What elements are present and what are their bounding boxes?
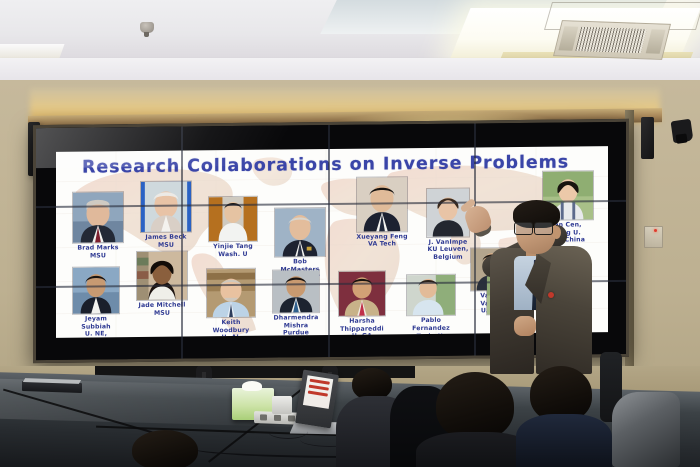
person-card-xueyang-feng: Xueyang Feng VA Tech xyxy=(356,176,408,249)
person-card-dharmendra-mishra: Dharmendra Mishra Purdue xyxy=(272,269,320,337)
audience-body xyxy=(516,414,612,467)
power-outlet-3 xyxy=(288,415,295,421)
audience-member-3 xyxy=(436,372,514,440)
power-adapter xyxy=(272,396,292,414)
person-name-affiliation: Keith Woodbury U. AL xyxy=(206,319,256,338)
presenter-glasses xyxy=(514,222,556,234)
power-outlet-1 xyxy=(260,414,267,420)
person-name-affiliation: Brad Marks MSU xyxy=(72,244,124,260)
ceiling xyxy=(0,0,700,86)
audience-head xyxy=(436,372,514,440)
person-card-keith-woodbury: Keith Woodbury U. AL xyxy=(206,268,256,338)
hvac-vent xyxy=(553,20,671,60)
person-card-brad-marks: Brad Marks MSU xyxy=(72,191,124,260)
audience-head xyxy=(132,430,198,467)
sticker-line-2 xyxy=(309,385,329,391)
conference-room-scene: Research Collaborations on Inverse Probl… xyxy=(0,0,700,467)
status-led-icon xyxy=(654,229,657,232)
audience-member-1 xyxy=(352,368,392,400)
presenter xyxy=(470,196,600,372)
portrait-photo xyxy=(338,270,386,317)
person-name-affiliation: Jeyam Subbiah U. NE, Lincoln xyxy=(72,315,120,338)
smoke-detector-icon xyxy=(140,22,154,33)
office-chair-right xyxy=(612,392,680,467)
person-name-affiliation: Yinjie Tang Wash. U xyxy=(208,243,258,259)
person-name-affiliation: Harsha Thippareddi U. GA xyxy=(338,318,386,338)
hvac-grille xyxy=(575,27,646,53)
audience-member-4 xyxy=(530,366,592,422)
ceiling-light-fixture-left xyxy=(0,44,65,58)
portrait-photo xyxy=(406,274,456,317)
sticker-line-1 xyxy=(310,379,330,385)
person-card-harsha-thippareddi: Harsha Thippareddi U. GA xyxy=(338,270,386,337)
person-name-affiliation: James Beck MSU xyxy=(140,233,192,249)
person-card-j-vanimpe: J. VanImpe KU Leuven, Belgium xyxy=(426,188,470,262)
person-card-jeyam-subbiah: Jeyam Subbiah U. NE, Lincoln xyxy=(72,266,120,338)
video-wall-bezel-seam-1 xyxy=(181,127,183,359)
document-on-table[interactable] xyxy=(22,381,82,393)
presenter-lower-hand xyxy=(514,316,536,336)
security-camera-icon xyxy=(671,119,694,144)
person-name-affiliation: J. VanImpe KU Leuven, Belgium xyxy=(426,238,470,261)
portrait-photo xyxy=(426,188,470,238)
portrait-photo xyxy=(272,269,320,314)
portrait-photo xyxy=(72,191,124,244)
wall-speaker-right xyxy=(641,117,654,159)
presenter-lapel-pin xyxy=(548,292,554,298)
person-card-james-beck: James Beck MSU xyxy=(140,180,192,249)
power-outlet-2 xyxy=(274,415,281,421)
person-name-affiliation: Dharmendra Mishra Purdue xyxy=(272,314,320,337)
portrait-photo xyxy=(208,196,258,243)
video-wall-bezel-seam-2 xyxy=(328,125,330,357)
hvac-vent-end-right xyxy=(646,29,666,53)
audience-member-5 xyxy=(132,430,198,467)
portrait-photo xyxy=(72,266,120,315)
person-name-affiliation: Xueyang Feng VA Tech xyxy=(356,233,408,249)
portrait-photo xyxy=(206,268,256,319)
sticker-line-3 xyxy=(308,391,328,397)
laptop-sticker xyxy=(303,375,333,409)
tissue-sheet xyxy=(242,381,262,391)
portrait-photo xyxy=(274,207,326,258)
wall-control-panel[interactable] xyxy=(644,226,663,248)
person-name-affiliation: Pablo Fernandez Tech. U. Cartegena Spain xyxy=(406,317,456,338)
